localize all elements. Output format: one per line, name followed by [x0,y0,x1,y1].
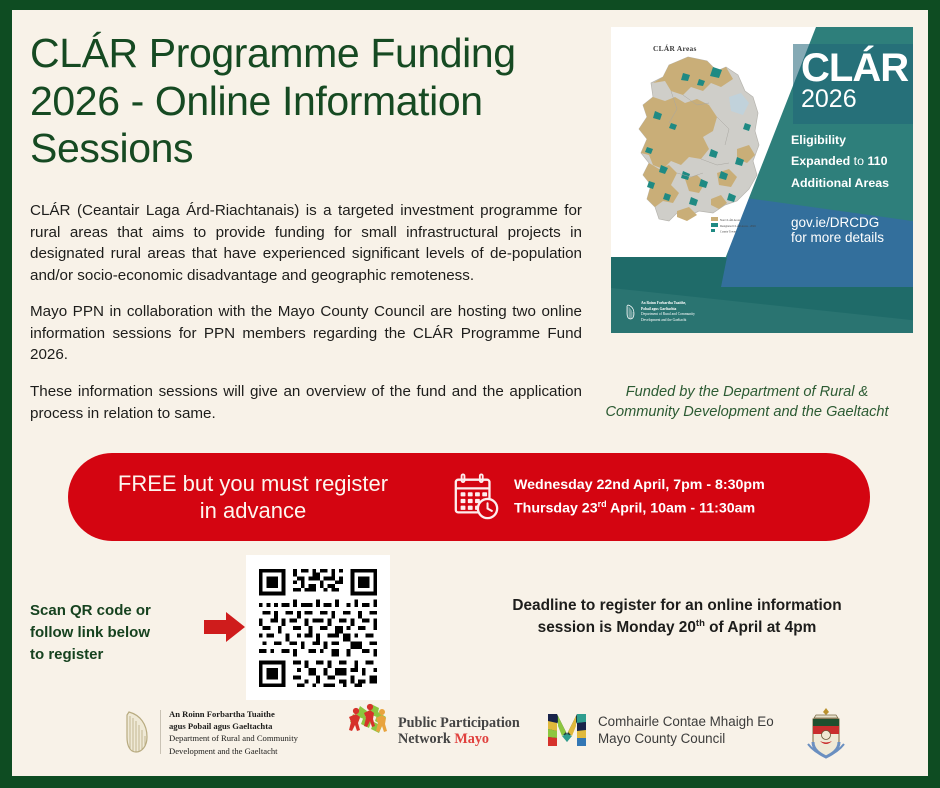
scan-line-1: Scan QR code or [30,600,151,622]
card-department-text: An Roinn Forbartha Tuaithe, Pobail agus … [641,301,695,323]
session-2-prefix: Thursday 23 [514,501,598,517]
harp-icon [625,304,636,320]
clar-brand-word: CLÁR [801,49,908,87]
funded-by-caption: Funded by the Department of Rural & Comm… [572,383,922,422]
ppn-label: Public Participation Network Mayo [398,715,520,751]
footer-logos: An Roinn Forbartha Tuaithe agus Pobail a… [12,702,928,768]
ppn-line-2: Network Mayo [398,731,520,748]
qr-code[interactable] [246,555,390,700]
free-line-1: FREE but you must register [68,470,438,498]
ppn-mayo-word: Mayo [454,731,489,747]
gov-url-subtext: for more details [791,230,913,245]
eligibility-to: to [854,154,864,168]
body-copy: CLÁR (Ceantair Laga Árd-Riachtanais) is … [30,200,582,424]
session-2-date: Thursday 23rd April, 10am - 11:30am [514,500,765,516]
paragraph-sessions: Mayo PPN in collaboration with the Mayo … [30,301,582,366]
session-1-date: Wednesday 22nd April, 7pm - 8:30pm [514,478,765,492]
card-dept-en-2: Development and the Gaeltacht [641,318,695,323]
gov-url[interactable]: gov.ie/DRCDG [791,215,913,230]
svg-text:County Towns: County Towns [720,231,736,234]
eligibility-line-1: Eligibility [791,130,911,151]
funded-by-line-2: Community Development and the Gaeltacht [572,403,922,423]
eligibility-count: 110 [867,154,887,168]
mayo-m-mosaic-icon [545,708,589,752]
eligibility-line-3: Additional Areas [791,173,911,194]
scan-line-3: to register [30,644,151,666]
clar-2026-promo-card: CLÁR Areas [611,27,913,333]
government-department-text: An Roinn Forbartha Tuaithe agus Pobail a… [169,708,298,757]
harp-icon [122,709,152,755]
ppn-line-1: Public Participation [398,715,520,732]
mcc-line-1: Comhairle Contae Mhaigh Eo [598,713,774,730]
clar-eligibility-text: Eligibility Expanded to 110 Additional A… [791,130,911,194]
deadline-suffix: of April at 4pm [705,619,816,636]
ppn-network-word: Network [398,731,451,747]
logo-divider [160,710,161,754]
government-of-ireland-logo: An Roinn Forbartha Tuaithe agus Pobail a… [122,708,298,757]
funded-by-line-1: Funded by the Department of Rural & [572,383,922,403]
mayo-county-council-label: Comhairle Contae Mhaigh Eo Mayo County C… [598,713,774,748]
free-line-2: in advance [68,497,438,525]
registration-banner: FREE but you must register in advance [68,453,870,541]
qr-code-icon[interactable] [255,565,381,691]
gov-ga-line-2: agus Pobail agus Gaeltachta [169,720,298,732]
ppn-people-icon [344,702,394,750]
paragraph-overview: These information sessions will give an … [30,381,582,424]
calendar-clock-icon-wrap [438,472,514,522]
deadline-line-1: Deadline to register for an online infor… [467,595,887,617]
mayo-county-council-logo: Comhairle Contae Mhaigh Eo Mayo County C… [545,708,774,752]
map-title-label: CLÁR Areas [653,44,697,53]
mayo-ppn-logo: Public Participation Network Mayo [344,702,520,750]
svg-text:Non CLÁR Areas: Non CLÁR Areas [720,219,740,222]
eligibility-expanded: Expanded [791,154,850,168]
deadline-prefix: session is Monday 20 [538,619,696,636]
arrow-right-icon-wrap [204,610,246,649]
free-registration-text: FREE but you must register in advance [68,470,438,525]
mcc-line-2: Mayo County Council [598,730,774,747]
session-2-suffix: April, 10am - 11:30am [607,501,756,517]
session-dates-list: Wednesday 22nd April, 7pm - 8:30pm Thurs… [514,470,765,524]
deadline-ordinal: th [696,618,705,629]
card-dept-en-1: Department of Rural and Community [641,312,695,317]
card-government-logo: An Roinn Forbartha Tuaithe, Pobail agus … [625,301,695,323]
gov-ga-line-1: An Roinn Forbartha Tuaithe [169,708,298,720]
deadline-line-2: session is Monday 20th of April at 4pm [467,617,887,639]
clar-brand-year: 2026 [801,87,857,112]
ireland-clar-areas-map-icon: Non CLÁR Areas Designated CLÁR Areas - 2… [625,53,793,249]
mayo-coat-of-arms-icon [802,704,850,762]
eligibility-line-2: Expanded to 110 [791,151,911,172]
poster-root: CLÁR Programme Funding 2026 - Online Inf… [0,0,940,788]
page-title: CLÁR Programme Funding 2026 - Online Inf… [30,30,590,173]
clar-gov-url-block[interactable]: gov.ie/DRCDG for more details [791,215,913,245]
arrow-right-icon [204,610,246,644]
session-2-ordinal: rd [598,499,607,509]
mayo-crest-icon-wrap [802,704,850,767]
gov-en-line-1: Department of Rural and Community [169,732,298,744]
scan-line-2: follow link below [30,622,151,644]
calendar-clock-icon [451,472,501,522]
poster-canvas: CLÁR Programme Funding 2026 - Online Inf… [12,10,928,776]
gov-en-line-2: Development and the Gaeltacht [169,745,298,757]
paragraph-about-clar: CLÁR (Ceantair Laga Árd-Riachtanais) is … [30,200,582,286]
scan-qr-label: Scan QR code or follow link below to reg… [30,600,151,667]
svg-text:Designated CLÁR Areas - 2026: Designated CLÁR Areas - 2026 [720,225,756,228]
deadline-text: Deadline to register for an online infor… [467,595,887,640]
